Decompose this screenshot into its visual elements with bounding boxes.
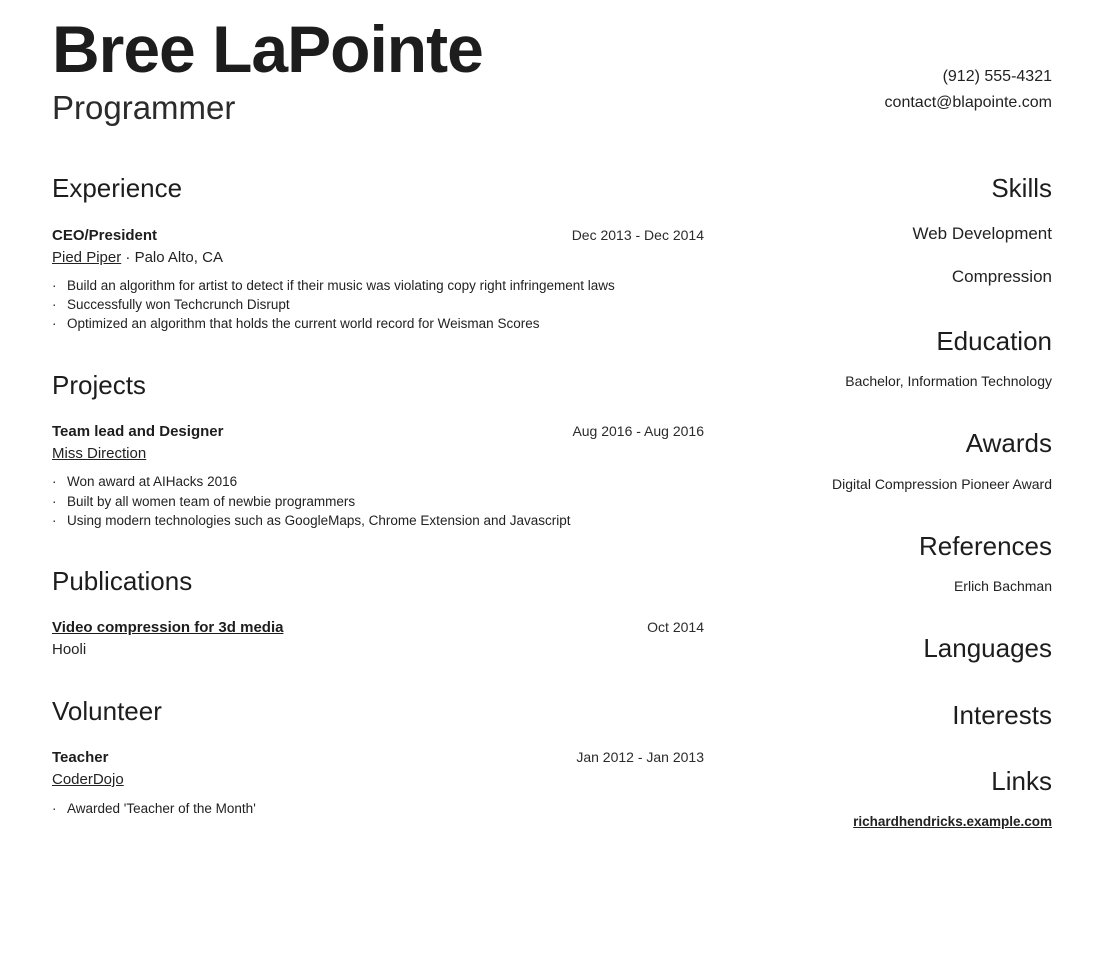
section-skills: Skills Web Development Compression [752,174,1052,288]
highlight-text: Successfully won Techcrunch Disrupt [67,297,290,312]
entry-projects-0: Team lead and Designer Aug 2016 - Aug 20… [52,423,704,530]
link-item[interactable]: richardhendricks.example.com [752,813,1052,831]
entry-subtitle: Pied Piper · Palo Alto, CA [52,248,704,268]
entry-experience-0: CEO/President Dec 2013 - Dec 2014 Pied P… [52,227,704,334]
section-experience: Experience CEO/President Dec 2013 - Dec … [52,174,704,333]
highlight-item: ·Build an algorithm for artist to detect… [52,276,704,295]
entry-title[interactable]: Video compression for 3d media [52,619,283,638]
bullet-icon: · [52,511,57,530]
education-item: Bachelor, Information Technology [752,372,1052,391]
entry-date: Oct 2014 [647,619,704,637]
entry-subtitle: Miss Direction [52,444,704,464]
entry-organization[interactable]: CoderDojo [52,771,124,788]
contact-phone[interactable]: (912) 555-4321 [885,64,1052,90]
award-item: Digital Compression Pioneer Award [752,475,1052,494]
section-heading-skills: Skills [752,174,1052,203]
section-heading-interests: Interests [752,701,1052,730]
skill-item: Compression [752,266,1052,289]
section-heading-volunteer: Volunteer [52,697,704,726]
resume-header: Bree LaPointe Programmer (912) 555-4321 … [52,0,1052,127]
section-volunteer: Volunteer Teacher Jan 2012 - Jan 2013 Co… [52,697,704,818]
entry-organization[interactable]: Pied Piper [52,249,121,266]
section-publications: Publications Video compression for 3d me… [52,567,704,660]
entry-organization: Hooli [52,641,86,658]
entry-title: Team lead and Designer [52,423,223,442]
entry-header-row: CEO/President Dec 2013 - Dec 2014 [52,227,704,246]
highlight-text: Optimized an algorithm that holds the cu… [67,316,539,331]
entry-date: Jan 2012 - Jan 2013 [576,749,704,767]
resume-body: Experience CEO/President Dec 2013 - Dec … [52,174,1052,831]
candidate-name: Bree LaPointe [52,14,483,85]
section-interests: Interests [752,701,1052,730]
bullet-icon: · [52,276,57,295]
highlight-text: Built by all women team of newbie progra… [67,494,355,509]
section-awards: Awards Digital Compression Pioneer Award [752,429,1052,493]
highlight-item: ·Built by all women team of newbie progr… [52,492,704,511]
reference-item: Erlich Bachman [752,577,1052,596]
section-heading-links: Links [752,767,1052,796]
section-heading-experience: Experience [52,174,704,203]
highlight-item: ·Successfully won Techcrunch Disrupt [52,295,704,314]
bullet-icon: · [52,314,57,333]
highlight-text: Awarded 'Teacher of the Month' [67,801,256,816]
identity-block: Bree LaPointe Programmer [52,14,483,127]
highlight-item: ·Optimized an algorithm that holds the c… [52,314,704,333]
highlight-item: ·Won award at AIHacks 2016 [52,472,704,491]
entry-location: Palo Alto, CA [135,249,223,266]
section-education: Education Bachelor, Information Technolo… [752,327,1052,391]
side-column: Skills Web Development Compression Educa… [752,174,1052,831]
entry-date: Aug 2016 - Aug 2016 [572,423,704,441]
section-heading-languages: Languages [752,634,1052,663]
entry-title: CEO/President [52,227,157,246]
highlight-item: ·Awarded 'Teacher of the Month' [52,799,704,818]
entry-organization[interactable]: Miss Direction [52,445,146,462]
bullet-icon: · [52,492,57,511]
section-heading-references: References [752,532,1052,561]
entry-header-row: Teacher Jan 2012 - Jan 2013 [52,749,704,768]
entry-highlights: ·Awarded 'Teacher of the Month' [52,799,704,818]
bullet-icon: · [52,295,57,314]
section-heading-projects: Projects [52,371,704,400]
entry-header-row: Video compression for 3d media Oct 2014 [52,619,704,638]
main-column: Experience CEO/President Dec 2013 - Dec … [52,174,704,817]
bullet-icon: · [52,799,57,818]
section-heading-awards: Awards [752,429,1052,458]
entry-highlights: ·Build an algorithm for artist to detect… [52,276,704,333]
entry-separator: · [121,249,134,266]
section-references: References Erlich Bachman [752,532,1052,596]
entry-date: Dec 2013 - Dec 2014 [572,227,704,245]
entry-highlights: ·Won award at AIHacks 2016 ·Built by all… [52,472,704,529]
section-links: Links richardhendricks.example.com [752,767,1052,831]
candidate-job-title: Programmer [52,89,483,127]
highlight-text: Build an algorithm for artist to detect … [67,278,615,293]
resume-document: Bree LaPointe Programmer (912) 555-4321 … [0,0,1104,963]
highlight-text: Using modern technologies such as Google… [67,513,571,528]
entry-volunteer-0: Teacher Jan 2012 - Jan 2013 CoderDojo ·A… [52,749,704,817]
entry-publications-0: Video compression for 3d media Oct 2014 … [52,619,704,659]
section-heading-publications: Publications [52,567,704,596]
entry-title: Teacher [52,749,108,768]
entry-subtitle: Hooli [52,640,704,660]
contact-block: (912) 555-4321 contact@blapointe.com [885,14,1052,115]
entry-subtitle: CoderDojo [52,770,704,790]
contact-email[interactable]: contact@blapointe.com [885,90,1052,116]
highlight-item: ·Using modern technologies such as Googl… [52,511,704,530]
entry-header-row: Team lead and Designer Aug 2016 - Aug 20… [52,423,704,442]
skill-item: Web Development [752,223,1052,246]
section-languages: Languages [752,634,1052,663]
section-heading-education: Education [752,327,1052,356]
section-projects: Projects Team lead and Designer Aug 2016… [52,371,704,530]
bullet-icon: · [52,472,57,491]
highlight-text: Won award at AIHacks 2016 [67,474,237,489]
